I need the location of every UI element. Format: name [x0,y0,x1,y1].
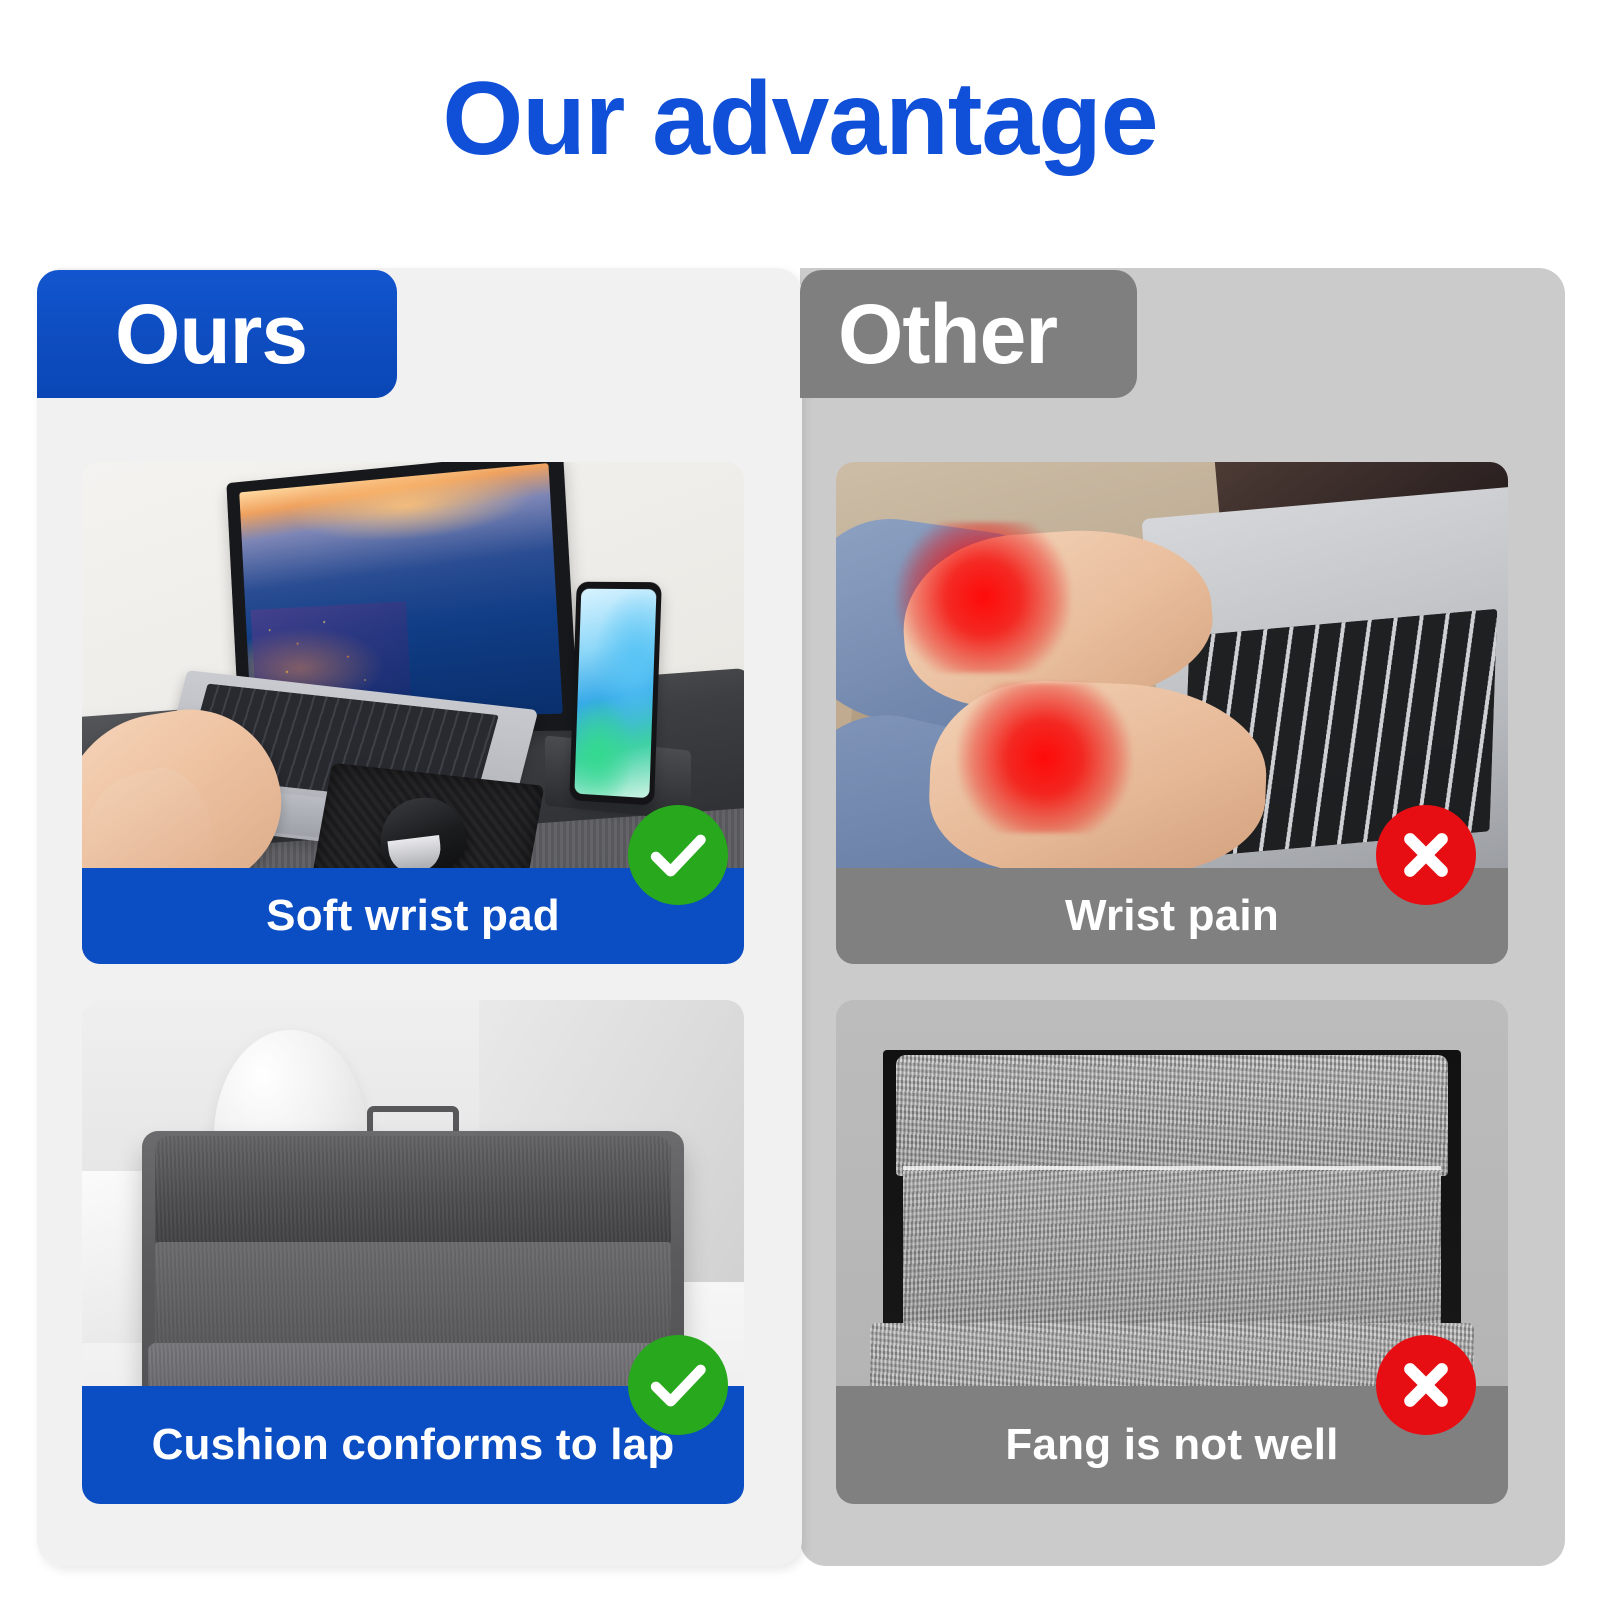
cross-icon [1376,805,1476,905]
check-icon [628,805,728,905]
caption-text: Fang is not well [1005,1420,1338,1470]
page-title: Our advantage [0,62,1600,176]
column-header-ours-label: Ours [115,286,307,383]
infographic-page: Our advantage Ours Other Soft wrist pad [0,0,1600,1600]
cross-icon [1376,1335,1476,1435]
column-header-other: Other [800,270,1137,398]
caption-text: Wrist pain [1065,891,1279,941]
card-ours-cushion[interactable]: Cushion conforms to lap [82,1000,744,1504]
column-header-other-label: Other [838,286,1057,383]
caption-text: Soft wrist pad [266,891,560,941]
check-icon [628,1335,728,1435]
column-header-ours: Ours [37,270,397,398]
caption-text: Cushion conforms to lap [152,1420,675,1470]
